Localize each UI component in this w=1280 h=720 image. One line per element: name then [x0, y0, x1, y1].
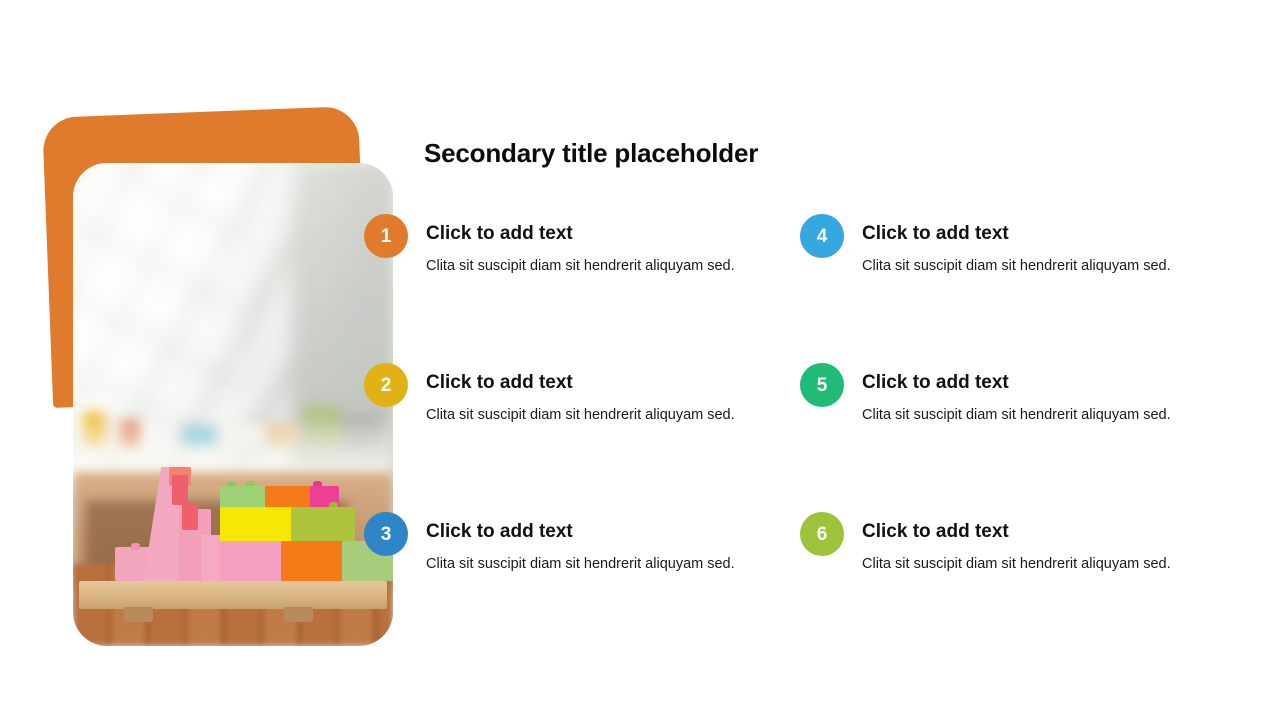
- item-number-badge-4: 4: [800, 214, 844, 258]
- item-number-badge-3: 3: [364, 512, 408, 556]
- visual-group: [0, 0, 420, 720]
- item-number-badge-2: 2: [364, 363, 408, 407]
- item-heading-2[interactable]: Click to add text: [426, 372, 573, 394]
- item-heading-4[interactable]: Click to add text: [862, 223, 1009, 245]
- item-body-5[interactable]: Clita sit suscipit diam sit hendrerit al…: [862, 407, 1171, 423]
- photo-toy-blocks: [73, 409, 393, 622]
- photo-image: [73, 163, 393, 646]
- item-body-4[interactable]: Clita sit suscipit diam sit hendrerit al…: [862, 258, 1171, 274]
- item-heading-1[interactable]: Click to add text: [426, 223, 573, 245]
- item-body-2[interactable]: Clita sit suscipit diam sit hendrerit al…: [426, 407, 735, 423]
- item-body-6[interactable]: Clita sit suscipit diam sit hendrerit al…: [862, 556, 1171, 572]
- item-heading-5[interactable]: Click to add text: [862, 372, 1009, 394]
- item-body-1[interactable]: Clita sit suscipit diam sit hendrerit al…: [426, 258, 735, 274]
- item-number-badge-1: 1: [364, 214, 408, 258]
- page-title: Secondary title placeholder: [424, 138, 758, 169]
- item-heading-3[interactable]: Click to add text: [426, 521, 573, 543]
- item-number-badge-5: 5: [800, 363, 844, 407]
- item-heading-6[interactable]: Click to add text: [862, 521, 1009, 543]
- item-number-badge-6: 6: [800, 512, 844, 556]
- photo-wooden-board: [79, 581, 386, 609]
- photo-placeholder[interactable]: [73, 163, 393, 646]
- slide-canvas: Secondary title placeholder 1 Click to a…: [0, 0, 1280, 720]
- item-body-3[interactable]: Clita sit suscipit diam sit hendrerit al…: [426, 556, 735, 572]
